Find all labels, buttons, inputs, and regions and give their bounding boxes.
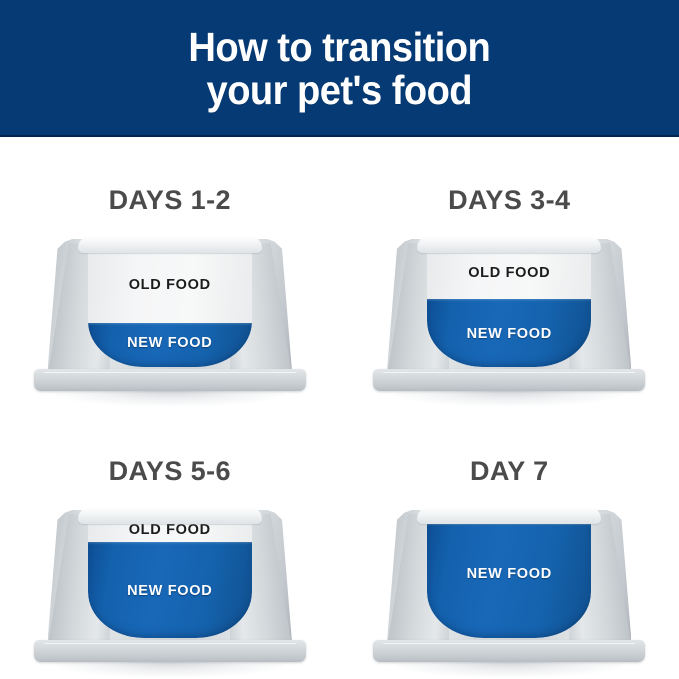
step-card-days-3-4: DAYS 3-4 OLD FOOD NEW FOOD xyxy=(340,137,679,408)
bowl-rim xyxy=(417,507,601,524)
bowl-cavity: OLD FOOD NEW FOOD xyxy=(88,245,252,367)
step-label: DAY 7 xyxy=(470,456,549,487)
new-food-fill xyxy=(427,516,591,638)
bowl-rim xyxy=(417,236,601,253)
step-label: DAYS 3-4 xyxy=(448,185,570,216)
bowl-cavity: NEW FOOD xyxy=(427,516,591,638)
bowl-rim xyxy=(78,236,262,253)
bowl-cavity: OLD FOOD NEW FOOD xyxy=(88,516,252,638)
food-bowl: OLD FOOD NEW FOOD xyxy=(369,233,649,408)
step-card-day-7: DAY 7 NEW FOOD xyxy=(340,408,679,679)
food-bowl: OLD FOOD NEW FOOD xyxy=(30,504,310,679)
food-bowl: NEW FOOD xyxy=(369,504,649,679)
step-label: DAYS 5-6 xyxy=(109,456,231,487)
bowl-shadow xyxy=(56,391,284,406)
food-bowl: OLD FOOD NEW FOOD xyxy=(30,233,310,408)
step-label: DAYS 1-2 xyxy=(109,185,231,216)
step-card-days-5-6: DAYS 5-6 OLD FOOD NEW FOOD xyxy=(0,408,340,679)
header-banner: How to transition your pet's food xyxy=(0,0,679,137)
bowl-shadow xyxy=(395,662,623,677)
bowl-shadow xyxy=(56,662,284,677)
bowl-cavity: OLD FOOD NEW FOOD xyxy=(427,245,591,367)
bowl-base xyxy=(34,640,306,662)
step-card-days-1-2: DAYS 1-2 OLD FOOD NEW FOOD xyxy=(0,137,340,408)
bowl-base xyxy=(373,640,645,662)
bowl-base xyxy=(373,369,645,391)
new-food-fill xyxy=(88,542,252,638)
bowl-shadow xyxy=(395,391,623,406)
bowl-base xyxy=(34,369,306,391)
transition-steps-grid: DAYS 1-2 OLD FOOD NEW FOOD DAYS 3-4 xyxy=(0,137,679,679)
new-food-fill xyxy=(427,299,591,367)
page-title: How to transition your pet's food xyxy=(174,26,506,111)
bowl-rim xyxy=(78,507,262,524)
